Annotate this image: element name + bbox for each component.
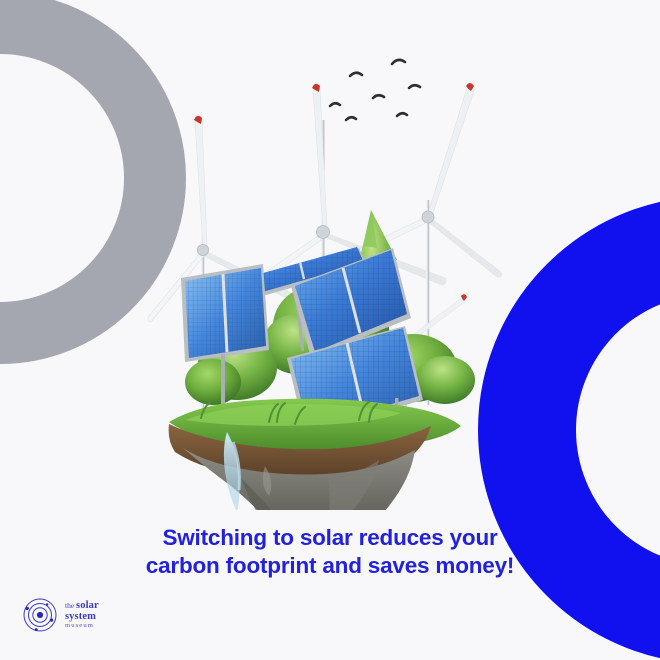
floating-island-illustration <box>145 50 505 510</box>
brand-logo[interactable]: the solar system museum <box>22 597 99 633</box>
bird-flock <box>330 60 420 120</box>
poster-canvas: Switching to solar reduces your carbon f… <box>0 0 660 660</box>
blue-ring-decoration <box>478 196 660 660</box>
logo-line-3: museum <box>65 623 99 630</box>
headline-text: Switching to solar reduces your carbon f… <box>0 524 660 581</box>
logo-wordmark: the solar system museum <box>65 600 99 630</box>
headline-line-1: Switching to solar reduces your <box>0 524 660 552</box>
headline-line-2: carbon footprint and saves money! <box>0 552 660 580</box>
orbit-icon <box>22 597 58 633</box>
